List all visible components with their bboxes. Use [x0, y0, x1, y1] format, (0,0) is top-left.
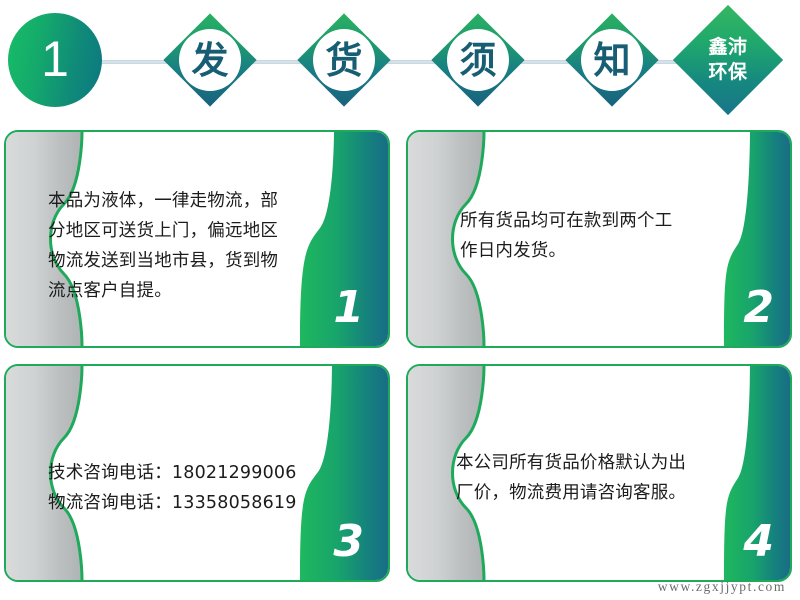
- card-2-line-2: 作日内发货。: [460, 236, 708, 266]
- brand-diamond: 鑫沛 环保: [673, 5, 783, 115]
- card-1-line-4: 流点客户自提。: [48, 276, 316, 306]
- card-4-number: 4: [743, 520, 774, 564]
- card-2-number: 2: [743, 286, 774, 330]
- card-2-text: 所有货品均可在款到两个工 作日内发货。: [460, 206, 708, 266]
- diamond-inner-circle: 发: [179, 29, 241, 91]
- header-diamond-xu: 须: [431, 13, 525, 107]
- diamond-inner-circle: 知: [581, 29, 643, 91]
- card-3-number: 3: [333, 520, 364, 564]
- header-diamond-zhi: 知: [565, 13, 659, 107]
- card-1-text: 本品为液体，一律走物流，部 分地区可送货上门，偏远地区 物流发送到当地市县，货到…: [48, 186, 316, 306]
- card-1-line-2: 分地区可送货上门，偏远地区: [48, 216, 316, 246]
- card-4-line-2: 厂价，物流费用请咨询客服。: [456, 478, 712, 508]
- card-4-line-1: 本公司所有货品价格默认为出: [456, 448, 712, 478]
- card-1-number: 1: [333, 286, 364, 330]
- card-3-line-1: 技术咨询电话：18021299006: [48, 458, 320, 488]
- card-2-line-1: 所有货品均可在款到两个工: [460, 206, 708, 236]
- notice-card-4: 本公司所有货品价格默认为出 厂价，物流费用请咨询客服。 4: [406, 364, 792, 582]
- header-diamond-huo: 货: [297, 13, 391, 107]
- brand-diamond-label: 鑫沛 环保: [673, 5, 783, 115]
- diamond-char-zhi: 知: [594, 42, 631, 79]
- diamond-char-xu: 须: [460, 42, 497, 79]
- diamond-inner-circle: 货: [313, 29, 375, 91]
- notice-card-3: 技术咨询电话：18021299006 物流咨询电话：13358058619 3: [4, 364, 390, 582]
- notice-card-2: 所有货品均可在款到两个工 作日内发货。 2: [406, 130, 792, 348]
- watermark-url: www.zgxjjypt.com: [658, 579, 786, 595]
- header-banner: 1 发 货 须 知 鑫沛 环保: [0, 0, 800, 118]
- notice-card-1: 本品为液体，一律走物流，部 分地区可送货上门，偏远地区 物流发送到当地市县，货到…: [4, 130, 390, 348]
- card-3-text: 技术咨询电话：18021299006 物流咨询电话：13358058619: [48, 458, 320, 518]
- header-diamond-fa: 发: [163, 13, 257, 107]
- brand-line-2: 环保: [708, 60, 747, 85]
- diamond-char-fa: 发: [192, 42, 229, 79]
- diamond-inner-circle: 须: [447, 29, 509, 91]
- header-step-badge-number: 1: [41, 34, 69, 84]
- card-1-line-3: 物流发送到当地市县，货到物: [48, 246, 316, 276]
- diamond-char-huo: 货: [326, 42, 363, 79]
- header-step-badge: 1: [8, 13, 102, 107]
- brand-line-1: 鑫沛: [708, 35, 747, 60]
- card-1-line-1: 本品为液体，一律走物流，部: [48, 186, 316, 216]
- cards-grid: 本品为液体，一律走物流，部 分地区可送货上门，偏远地区 物流发送到当地市县，货到…: [0, 128, 800, 600]
- card-3-line-2: 物流咨询电话：13358058619: [48, 488, 320, 518]
- card-4-text: 本公司所有货品价格默认为出 厂价，物流费用请咨询客服。: [456, 448, 712, 508]
